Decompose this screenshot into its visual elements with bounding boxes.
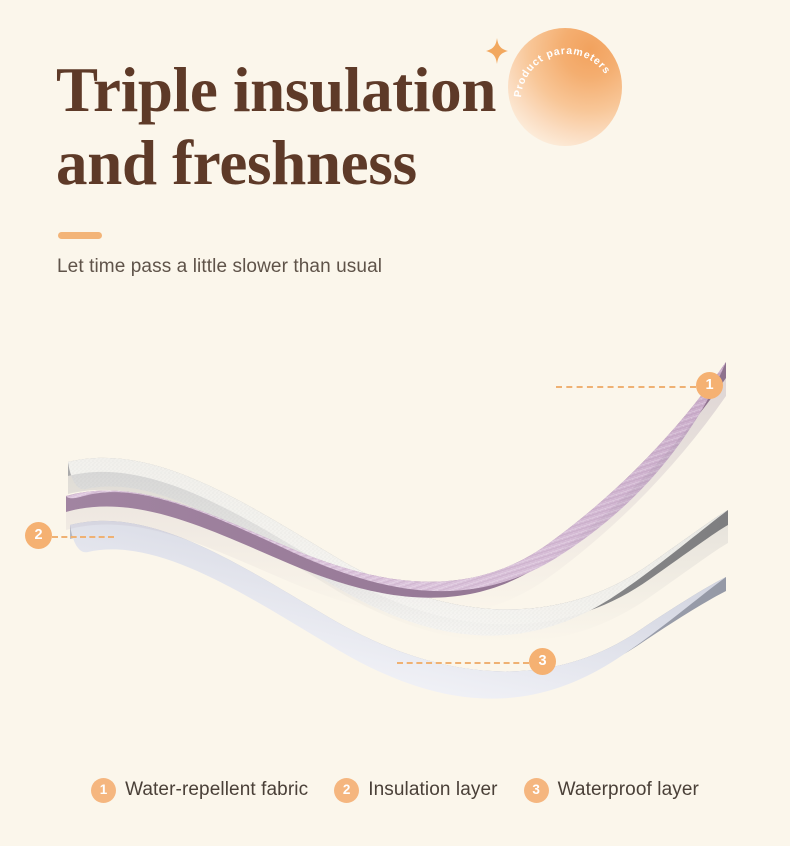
callout-3-marker[interactable]: 3 <box>529 648 556 675</box>
callout-3-leader-line <box>397 662 529 664</box>
legend-label-2: Insulation layer <box>368 779 497 801</box>
callout-1-leader-line <box>556 386 696 388</box>
headline-line-2: and freshness <box>56 127 696 200</box>
legend-item-2[interactable]: 2 Insulation layer <box>334 778 497 803</box>
legend-item-1[interactable]: 1 Water-repellent fabric <box>91 778 308 803</box>
legend: 1 Water-repellent fabric 2 Insulation la… <box>0 765 790 815</box>
page-title: Triple insulation and freshness <box>56 54 696 200</box>
callout-1-marker[interactable]: 1 <box>696 372 723 399</box>
legend-number-badge-2: 2 <box>334 778 359 803</box>
legend-label-3: Waterproof layer <box>558 779 699 801</box>
callout-2-leader-line <box>52 536 114 538</box>
callout-2-marker[interactable]: 2 <box>25 522 52 549</box>
divider-bar <box>58 232 102 239</box>
headline-line-1: Triple insulation <box>56 54 696 127</box>
header-section: Product parameters Triple insulation and… <box>0 0 790 300</box>
layers-svg <box>0 300 790 752</box>
product-parameters-infographic: Product parameters Triple insulation and… <box>0 0 790 846</box>
legend-number-badge-1: 1 <box>91 778 116 803</box>
layer-illustration <box>0 300 790 752</box>
page-subtitle: Let time pass a little slower than usual <box>57 256 382 278</box>
legend-item-3[interactable]: 3 Waterproof layer <box>524 778 699 803</box>
legend-number-badge-3: 3 <box>524 778 549 803</box>
legend-label-1: Water-repellent fabric <box>125 779 308 801</box>
